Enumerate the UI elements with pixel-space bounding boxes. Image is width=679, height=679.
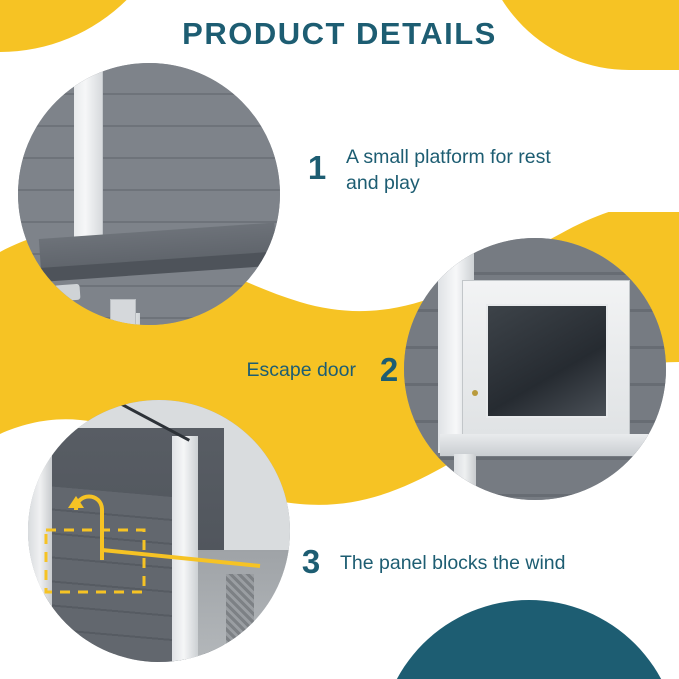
step-text-1: A small platform for rest and play	[346, 144, 576, 197]
wind-panel-photo	[28, 400, 290, 662]
platform-photo-content	[18, 63, 280, 325]
escape-door-opening	[486, 304, 608, 418]
brass-screw	[472, 390, 478, 396]
step-number-2: 2	[372, 350, 406, 390]
door-sill	[440, 434, 660, 456]
platform-bracket	[110, 299, 136, 325]
platform-foot	[43, 284, 80, 302]
yellow-direction-arrow	[28, 400, 290, 662]
teal-arc-shape-bottom	[379, 600, 679, 679]
wind-panel-photo-content	[28, 400, 290, 662]
step-number-1: 1	[300, 148, 334, 188]
escape-door-photo	[404, 238, 666, 500]
page-title: PRODUCT DETAILS	[0, 16, 679, 52]
product-details-infographic: PRODUCT DETAILS	[0, 0, 679, 679]
step-text-3: The panel blocks the wind	[340, 550, 670, 576]
support-leg	[454, 454, 476, 500]
step-number-3: 3	[294, 542, 328, 582]
escape-door-photo-content	[404, 238, 666, 500]
step-text-2: Escape door	[186, 357, 356, 383]
platform-photo	[18, 63, 280, 325]
